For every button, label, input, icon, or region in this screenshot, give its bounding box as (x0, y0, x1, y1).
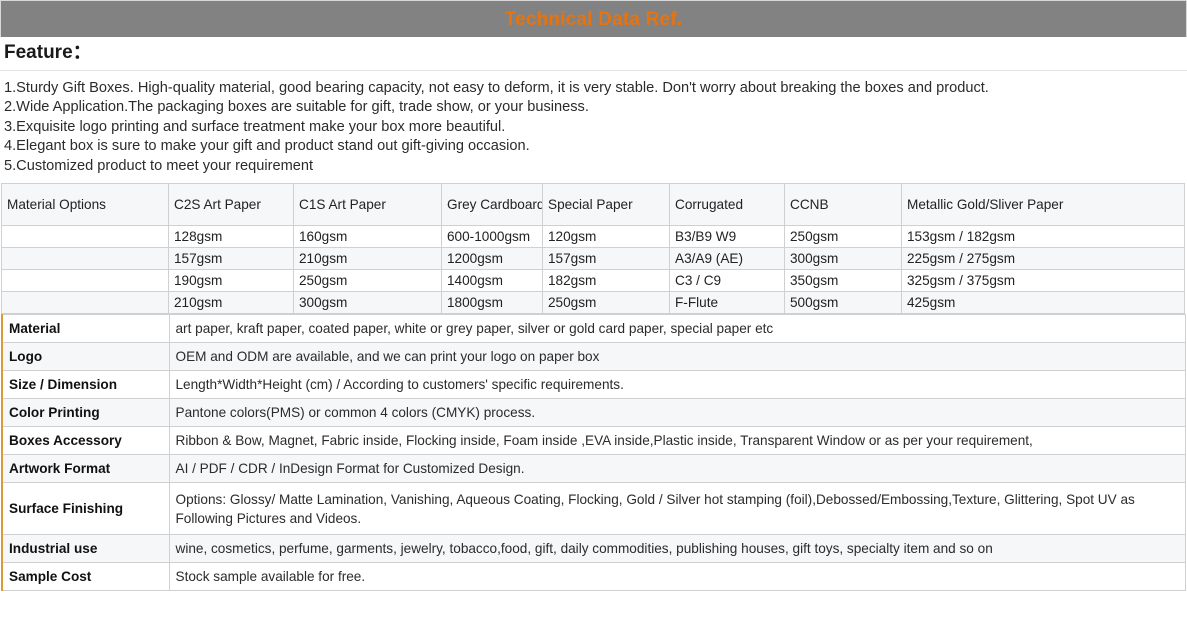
table-cell: 425gsm (902, 292, 1185, 314)
table-cell: F-Flute (670, 292, 785, 314)
spec-row-logo: Logo OEM and ODM are available, and we c… (2, 343, 1185, 371)
spec-label: Size / Dimension (2, 371, 169, 399)
spec-value: art paper, kraft paper, coated paper, wh… (169, 315, 1185, 343)
table-cell: B3/B9 W9 (670, 226, 785, 248)
table-cell (2, 270, 169, 292)
spec-row-color-printing: Color Printing Pantone colors(PMS) or co… (2, 399, 1185, 427)
spec-row-surface-finishing: Surface Finishing Options: Glossy/ Matte… (2, 483, 1185, 535)
spec-value: AI / PDF / CDR / InDesign Format for Cus… (169, 455, 1185, 483)
spec-row-size-dimension: Size / Dimension Length*Width*Height (cm… (2, 371, 1185, 399)
spec-label: Sample Cost (2, 563, 169, 591)
table-cell: 120gsm (543, 226, 670, 248)
table-cell (2, 248, 169, 270)
spec-label: Logo (2, 343, 169, 371)
feature-heading-row: Feature： (0, 37, 1187, 71)
spec-row-sample-cost: Sample Cost Stock sample available for f… (2, 563, 1185, 591)
page-title: Technical Data Ref. (505, 10, 683, 29)
spec-value: wine, cosmetics, perfume, garments, jewe… (169, 535, 1185, 563)
column-header: CCNB (785, 184, 902, 226)
table-cell: 210gsm (294, 248, 442, 270)
specification-table: Material art paper, kraft paper, coated … (1, 314, 1186, 591)
table-cell: 157gsm (169, 248, 294, 270)
feature-line: 1.Sturdy Gift Boxes. High-quality materi… (4, 79, 1183, 99)
table-cell: 1400gsm (442, 270, 543, 292)
page-banner: Technical Data Ref. (0, 0, 1187, 37)
table-cell: 225gsm / 275gsm (902, 248, 1185, 270)
column-header: C2S Art Paper (169, 184, 294, 226)
spec-value: Length*Width*Height (cm) / According to … (169, 371, 1185, 399)
table-cell: 325gsm / 375gsm (902, 270, 1185, 292)
table-cell: C3 / C9 (670, 270, 785, 292)
spec-label: Industrial use (2, 535, 169, 563)
feature-line: 5.Customized product to meet your requir… (4, 157, 1183, 177)
table-cell: 128gsm (169, 226, 294, 248)
spec-value: OEM and ODM are available, and we can pr… (169, 343, 1185, 371)
table-cell: 1200gsm (442, 248, 543, 270)
technical-data-page: Technical Data Ref. Feature： 1.Sturdy Gi… (0, 0, 1187, 620)
column-header: Corrugated (670, 184, 785, 226)
table-cell: 157gsm (543, 248, 670, 270)
table-cell (2, 292, 169, 314)
spec-row-boxes-accessory: Boxes Accessory Ribbon & Bow, Magnet, Fa… (2, 427, 1185, 455)
table-cell: 190gsm (169, 270, 294, 292)
column-header: Material Options (2, 184, 169, 226)
column-header: Special Paper (543, 184, 670, 226)
table-row: 157gsm 210gsm 1200gsm 157gsm A3/A9 (AE) … (2, 248, 1185, 270)
spec-row-material: Material art paper, kraft paper, coated … (2, 315, 1185, 343)
table-row: 128gsm 160gsm 600-1000gsm 120gsm B3/B9 W… (2, 226, 1185, 248)
table-cell: 250gsm (543, 292, 670, 314)
spec-value: Pantone colors(PMS) or common 4 colors (… (169, 399, 1185, 427)
spec-row-industrial-use: Industrial use wine, cosmetics, perfume,… (2, 535, 1185, 563)
spec-label: Surface Finishing (2, 483, 169, 535)
column-header: Metallic Gold/Sliver Paper (902, 184, 1185, 226)
table-cell: 250gsm (294, 270, 442, 292)
spec-value: Stock sample available for free. (169, 563, 1185, 591)
table-cell: 300gsm (785, 248, 902, 270)
spec-value: Ribbon & Bow, Magnet, Fabric inside, Flo… (169, 427, 1185, 455)
table-cell: A3/A9 (AE) (670, 248, 785, 270)
table-cell: 250gsm (785, 226, 902, 248)
table-cell: 210gsm (169, 292, 294, 314)
material-options-table: Material Options C2S Art Paper C1S Art P… (1, 183, 1185, 314)
feature-line: 2.Wide Application.The packaging boxes a… (4, 98, 1183, 118)
table-cell: 1800gsm (442, 292, 543, 314)
table-cell (2, 226, 169, 248)
spec-label: Material (2, 315, 169, 343)
table-header-row: Material Options C2S Art Paper C1S Art P… (2, 184, 1185, 226)
feature-line: 3.Exquisite logo printing and surface tr… (4, 118, 1183, 138)
table-cell: 600-1000gsm (442, 226, 543, 248)
table-cell: 500gsm (785, 292, 902, 314)
spec-row-artwork-format: Artwork Format AI / PDF / CDR / InDesign… (2, 455, 1185, 483)
table-row: 210gsm 300gsm 1800gsm 250gsm F-Flute 500… (2, 292, 1185, 314)
spec-label: Boxes Accessory (2, 427, 169, 455)
spec-label: Artwork Format (2, 455, 169, 483)
table-row: 190gsm 250gsm 1400gsm 182gsm C3 / C9 350… (2, 270, 1185, 292)
table-cell: 153gsm / 182gsm (902, 226, 1185, 248)
table-cell: 182gsm (543, 270, 670, 292)
column-header: C1S Art Paper (294, 184, 442, 226)
column-header: Grey Cardboard (442, 184, 543, 226)
feature-line: 4.Elegant box is sure to make your gift … (4, 137, 1183, 157)
spec-label: Color Printing (2, 399, 169, 427)
feature-heading: Feature： (4, 42, 1183, 64)
table-cell: 350gsm (785, 270, 902, 292)
feature-list: 1.Sturdy Gift Boxes. High-quality materi… (0, 71, 1187, 184)
table-cell: 160gsm (294, 226, 442, 248)
table-cell: 300gsm (294, 292, 442, 314)
spec-value: Options: Glossy/ Matte Lamination, Vanis… (169, 483, 1185, 535)
